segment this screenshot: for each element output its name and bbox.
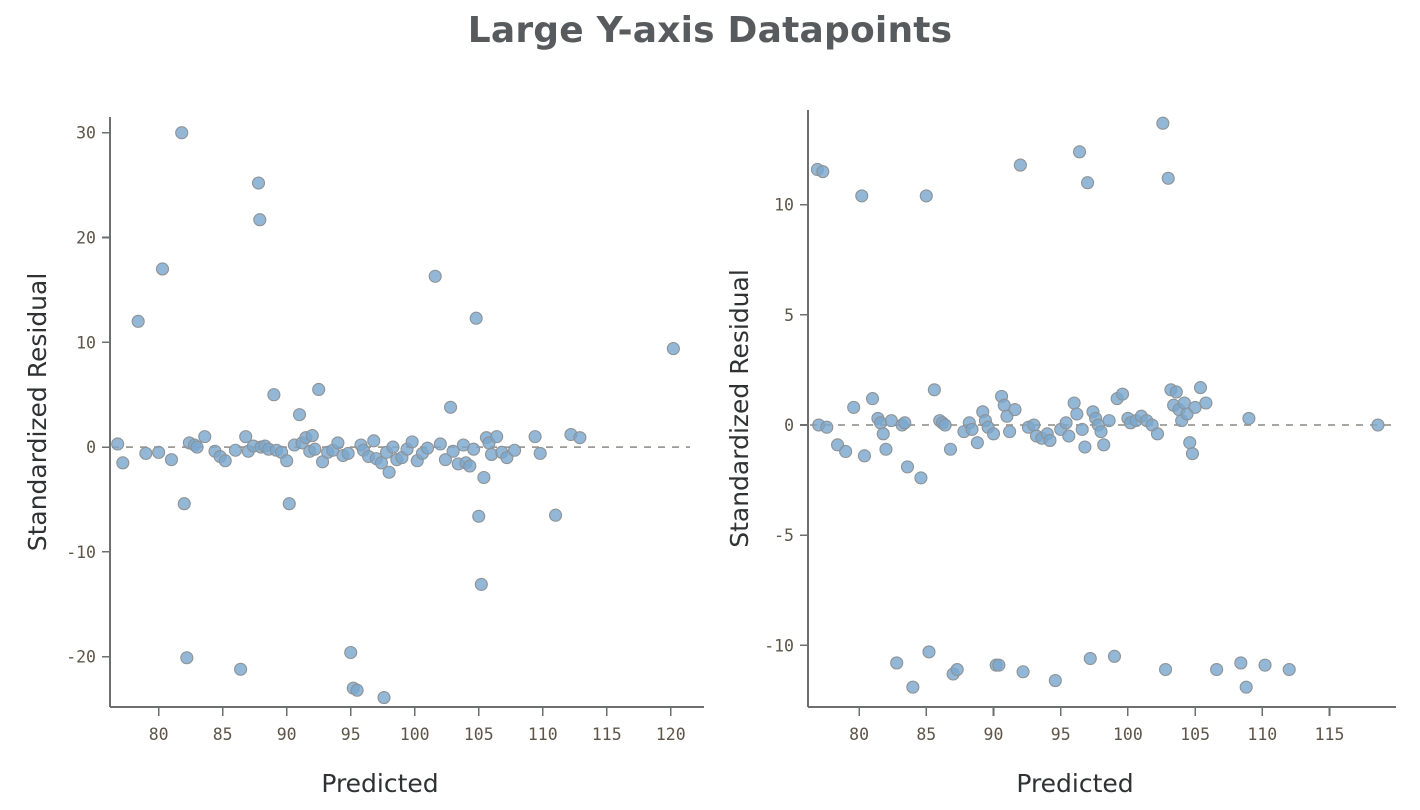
data-point (1084, 653, 1096, 665)
data-point-group (112, 127, 680, 704)
data-point (923, 646, 935, 658)
x-tick-label: 80 (149, 725, 169, 744)
data-point (1098, 439, 1110, 451)
data-point (464, 460, 476, 472)
data-point (1283, 664, 1295, 676)
data-point (156, 263, 168, 275)
data-point (306, 430, 318, 442)
data-point (885, 415, 897, 427)
data-point (309, 443, 321, 455)
data-point (268, 389, 280, 401)
data-point (1117, 388, 1129, 400)
data-point (1063, 430, 1075, 442)
data-point (253, 177, 265, 189)
data-point (998, 399, 1010, 411)
data-point (1195, 382, 1207, 394)
data-point (445, 401, 457, 413)
data-point (877, 428, 889, 440)
data-point (153, 446, 165, 458)
right-chart-panel: 1050-5-1080859095100105110115PredictedSt… (710, 62, 1420, 810)
data-point (993, 659, 1005, 671)
data-point (117, 457, 129, 469)
data-point (1049, 675, 1061, 687)
data-point (429, 270, 441, 282)
data-point (1200, 397, 1212, 409)
y-tick-label: -5 (774, 526, 794, 545)
data-point (1009, 404, 1021, 416)
data-point (1108, 650, 1120, 662)
data-point (951, 664, 963, 676)
y-tick-label: 0 (784, 416, 794, 435)
data-point (478, 472, 490, 484)
y-tick-label: 0 (86, 438, 96, 457)
data-point (219, 455, 231, 467)
data-point (1259, 659, 1271, 671)
data-point (468, 443, 480, 455)
data-point (534, 447, 546, 459)
left-chart-panel: 3020100-10-2080859095100105110115120Pred… (0, 62, 710, 810)
data-point (1044, 434, 1056, 446)
data-point (1162, 172, 1174, 184)
y-tick-label: 20 (76, 229, 96, 248)
data-point (293, 409, 305, 421)
x-tick-label: 105 (1180, 725, 1210, 744)
data-point (181, 652, 193, 664)
y-tick-label: 30 (76, 124, 96, 143)
data-point (132, 315, 144, 327)
data-point (199, 431, 211, 443)
data-point (858, 450, 870, 462)
x-tick-label: 120 (656, 725, 686, 744)
y-axis-title: Standardized Residual (725, 269, 754, 548)
data-point (867, 393, 879, 405)
data-point (1004, 426, 1016, 438)
y-axis-title: Standardized Residual (23, 273, 52, 552)
data-point (1211, 664, 1223, 676)
data-point (915, 472, 927, 484)
data-point (254, 214, 266, 226)
data-point (907, 681, 919, 693)
data-point (1151, 428, 1163, 440)
data-point (475, 578, 487, 590)
data-point (848, 401, 860, 413)
x-tick-label: 95 (1051, 725, 1071, 744)
data-point (1017, 666, 1029, 678)
data-point (1068, 397, 1080, 409)
data-point (345, 647, 357, 659)
data-point (351, 684, 363, 696)
data-point (1240, 681, 1252, 693)
data-point (1186, 448, 1198, 460)
data-point (140, 447, 152, 459)
x-tick-label: 110 (528, 725, 558, 744)
data-point (491, 431, 503, 443)
x-tick-label: 85 (916, 725, 936, 744)
data-point (1235, 657, 1247, 669)
data-point (899, 417, 911, 429)
data-point (1014, 159, 1026, 171)
data-point (332, 437, 344, 449)
x-tick-label: 80 (849, 725, 869, 744)
data-point (368, 435, 380, 447)
data-point (378, 692, 390, 704)
x-tick-label: 100 (400, 725, 430, 744)
data-point (529, 431, 541, 443)
data-point (165, 454, 177, 466)
x-tick-label: 105 (464, 725, 494, 744)
x-tick-label: 100 (1113, 725, 1143, 744)
data-point (473, 510, 485, 522)
page-title: Large Y-axis Datapoints (0, 0, 1420, 62)
data-point (406, 436, 418, 448)
data-point (944, 443, 956, 455)
data-point (891, 657, 903, 669)
x-axis-title: Predicted (1016, 769, 1133, 798)
x-axis-title: Predicted (321, 769, 438, 798)
x-tick-label: 95 (341, 725, 361, 744)
data-point (840, 445, 852, 457)
data-point (1170, 386, 1182, 398)
data-point (1178, 397, 1190, 409)
data-point (509, 444, 521, 456)
data-point (667, 343, 679, 355)
data-point (1082, 177, 1094, 189)
data-point (1103, 415, 1115, 427)
y-tick-label: 5 (784, 306, 794, 325)
data-point (1372, 419, 1384, 431)
x-tick-label: 115 (592, 725, 622, 744)
data-point (422, 442, 434, 454)
y-tick-label: 10 (76, 333, 96, 352)
data-point (1074, 146, 1086, 158)
data-point (920, 190, 932, 202)
data-point (383, 466, 395, 478)
data-point (283, 498, 295, 510)
data-point (434, 438, 446, 450)
right-scatter-plot: 1050-5-1080859095100105110115PredictedSt… (710, 62, 1420, 810)
y-tick-label: -10 (764, 636, 794, 655)
y-tick-label: -20 (66, 648, 96, 667)
data-point (229, 444, 241, 456)
data-point (176, 127, 188, 139)
data-point (313, 383, 325, 395)
data-point (1243, 412, 1255, 424)
data-point (988, 428, 1000, 440)
data-point (971, 437, 983, 449)
data-point (1095, 426, 1107, 438)
data-point (191, 441, 203, 453)
data-point (821, 421, 833, 433)
data-point (1079, 441, 1091, 453)
data-point (342, 447, 354, 459)
data-point (939, 419, 951, 431)
data-point (966, 423, 978, 435)
data-point (901, 461, 913, 473)
data-point (470, 312, 482, 324)
y-tick-label: 10 (774, 196, 794, 215)
data-point (1157, 117, 1169, 129)
x-tick-label: 85 (213, 725, 233, 744)
data-point (281, 455, 293, 467)
data-point (1160, 664, 1172, 676)
data-point (880, 443, 892, 455)
data-point (1060, 417, 1072, 429)
data-point (875, 417, 887, 429)
y-tick-label: -10 (66, 543, 96, 562)
data-point (112, 438, 124, 450)
data-point (574, 432, 586, 444)
data-point (817, 166, 829, 178)
data-point (1028, 419, 1040, 431)
data-point (387, 441, 399, 453)
data-point (178, 498, 190, 510)
data-point-group (811, 117, 1384, 693)
data-point (235, 663, 247, 675)
data-point (1071, 408, 1083, 420)
data-point (1184, 437, 1196, 449)
x-tick-label: 90 (984, 725, 1004, 744)
x-tick-label: 90 (277, 725, 297, 744)
data-point (1076, 423, 1088, 435)
left-scatter-plot: 3020100-10-2080859095100105110115120Pred… (0, 62, 710, 810)
data-point (856, 190, 868, 202)
data-point (928, 384, 940, 396)
x-tick-label: 110 (1247, 725, 1277, 744)
data-point (550, 509, 562, 521)
x-tick-label: 115 (1315, 725, 1345, 744)
data-point (1189, 401, 1201, 413)
